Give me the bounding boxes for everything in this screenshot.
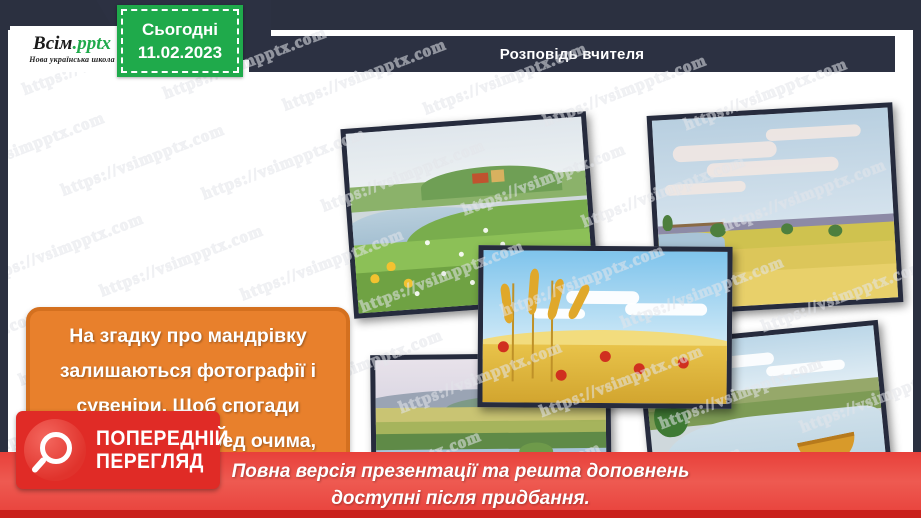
magnifier-icon [24,419,86,481]
watermark-text: https://vsimpptx.com [8,108,107,188]
presentation-slide: https://vsimpptx.comhttps://vsimpptx.com… [0,0,921,518]
slide-header-bar: Розповідь вчителя [249,36,895,72]
date-value: 11.02.2023 [138,41,222,64]
photo-wheat-ears-poppies [477,245,732,409]
preview-badge-line-2: ПЕРЕГЛЯД [96,450,229,473]
logo-tagline: Нова українська школа [29,54,115,65]
date-label: Сьогодні [142,18,218,41]
page-title: Розповідь вчителя [500,46,645,63]
site-logo[interactable]: Всім.pptx Нова українська школа [10,26,134,72]
logo-extension: .pptx [72,33,111,54]
watermark-text: https://vsimpptx.com [97,221,266,301]
watermark-text: https://vsimpptx.com [642,30,811,33]
watermark-text: https://vsimpptx.com [58,120,227,200]
preview-badge-line-1: ПОПЕРЕДНІЙ [96,427,229,450]
watermark-text: https://vsimpptx.com [8,209,146,289]
preview-badge[interactable]: ПОПЕРЕДНІЙ ПЕРЕГЛЯД [16,411,220,489]
logo-wordmark: Всім.pptx [33,34,111,54]
logo-name: Всім [33,33,72,54]
ribbon-line-2: доступні після придбання. [331,485,590,512]
preview-badge-text: ПОПЕРЕДНІЙ ПЕРЕГЛЯД [96,427,229,473]
magnifier-handle [31,456,48,473]
ribbon-line-1: Повна версія презентації та решта доповн… [232,458,690,485]
today-date-badge: Сьогодні 11.02.2023 [117,5,243,77]
